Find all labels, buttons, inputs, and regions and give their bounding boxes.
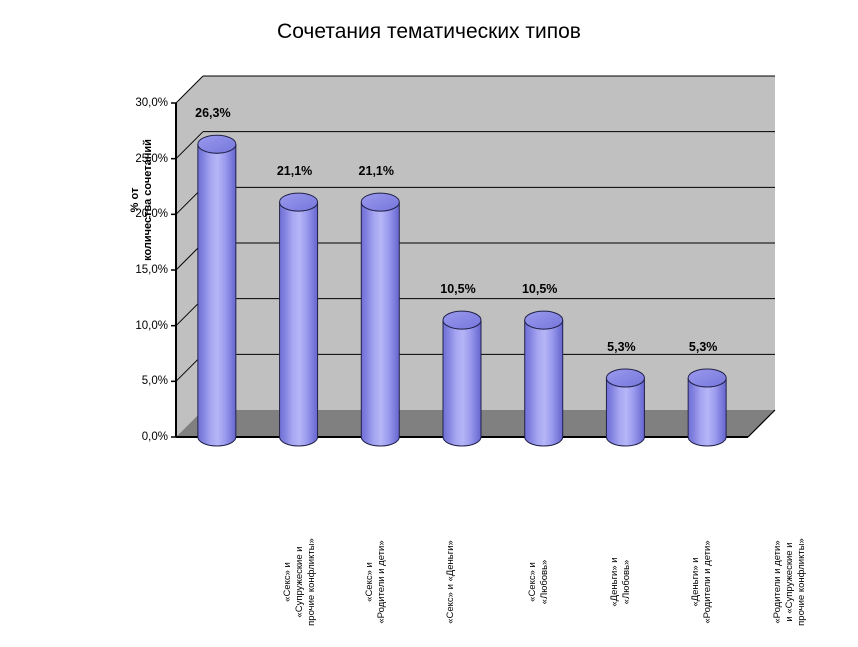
bar-value-label: 21,1% [277, 164, 312, 178]
x-axis-category-label: «Секс» и «Любовь» [527, 517, 551, 647]
y-axis-tick-label: 25,0% [104, 153, 168, 165]
cylinder-body [688, 378, 726, 446]
x-axis-category-label: «Родители и дети» и «Супружеские и прочи… [772, 517, 808, 647]
bar-value-label: 10,5% [440, 282, 475, 296]
y-axis-tick-label: 0,0% [104, 431, 168, 443]
y-axis-tick-label: 20,0% [104, 208, 168, 220]
cylinder-body [443, 320, 481, 446]
bar-cylinder [198, 135, 236, 446]
cylinder-body [606, 378, 644, 446]
x-axis-category-label: «Секс» и «Деньги» [445, 517, 457, 647]
x-axis-category-label: «Секс» и «Супружеские и прочие конфликты… [282, 517, 318, 647]
bar-cylinder [606, 369, 644, 446]
cylinder-top-cap [361, 193, 399, 211]
bar-value-label: 10,5% [522, 282, 557, 296]
y-axis-tick-label: 15,0% [104, 264, 168, 276]
cylinder-body [198, 144, 236, 446]
y-axis-tick-labels: 0,0%5,0%10,0%15,0%20,0%25,0%30,0% [100, 0, 168, 581]
y-axis-tick-label: 5,0% [104, 375, 168, 387]
cylinder-top-cap [525, 311, 563, 329]
cylinder-top-cap [688, 369, 726, 387]
chart-container: Сочетания тематических типов % от количе… [0, 0, 858, 581]
x-axis-category-label: «Секс» и «Родители и дети» [364, 517, 388, 647]
y-axis-tick-label: 30,0% [104, 97, 168, 109]
bar-value-label: 21,1% [359, 164, 394, 178]
cylinder-body [361, 202, 399, 446]
bar-cylinder [443, 311, 481, 446]
bar-value-label: 5,3% [607, 340, 636, 354]
bar-cylinder [688, 369, 726, 446]
bar-value-label: 26,3% [195, 106, 230, 120]
bar-cylinder [361, 193, 399, 446]
cylinder-top-cap [198, 135, 236, 153]
cylinder-body [280, 202, 318, 446]
x-axis-category-label: «Деньги» и «Родители и дети» [690, 517, 714, 647]
x-axis-category-label: «Деньги» и «Любовь» [609, 517, 633, 647]
cylinder-top-cap [606, 369, 644, 387]
bar-cylinder [280, 193, 318, 446]
bar-cylinder [525, 311, 563, 446]
cylinder-top-cap [280, 193, 318, 211]
y-axis-tick-label: 10,0% [104, 320, 168, 332]
cylinder-body [525, 320, 563, 446]
bar-value-label: 5,3% [689, 340, 718, 354]
cylinder-top-cap [443, 311, 481, 329]
